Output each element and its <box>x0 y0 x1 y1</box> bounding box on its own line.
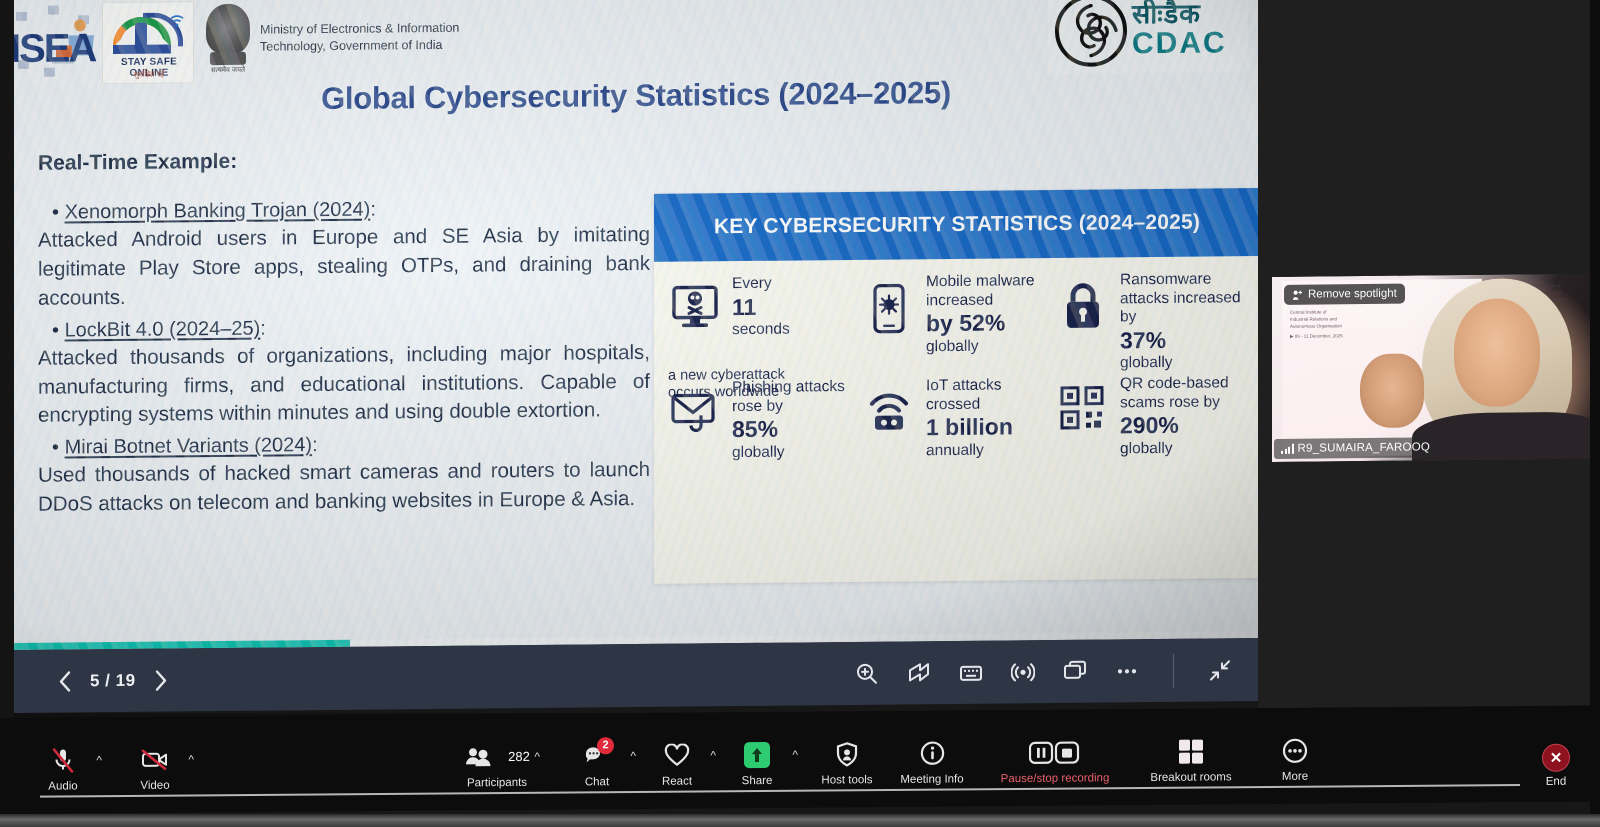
video-label: Video <box>140 779 169 791</box>
more-button[interactable]: More <box>1258 729 1332 783</box>
infographic-stat-grid: Every 11 seconds a new cyberattack occur… <box>654 256 1258 490</box>
iot-signal-icon <box>862 377 916 479</box>
host-tools-button[interactable]: Host tools <box>810 733 884 787</box>
chat-button[interactable]: 2 Chat ^ <box>560 735 634 789</box>
stat-3-line2: globally <box>1120 354 1250 374</box>
monitor-bezel-right <box>1590 0 1600 827</box>
stat-qr-scams: QR code-based scams rose by 290% globall… <box>1056 374 1250 478</box>
stat-4-line2: globally <box>732 443 862 463</box>
meeting-control-toolbar: Audio ^ Video ^ <box>0 705 1600 814</box>
chat-label: Chat <box>585 776 609 788</box>
infographic-title: KEY CYBERSECURITY STATISTICS (2024–2025) <box>714 211 1200 240</box>
bullet-label-3: Mirai Botnet Variants (2024) <box>65 434 313 458</box>
ministry-text: Ministry of Electronics & Information Te… <box>260 20 460 56</box>
stat-mobile-malware: Mobile malware increased by 52% globally <box>862 272 1056 376</box>
chevron-left-icon[interactable] <box>58 670 72 692</box>
more-dots-icon <box>1282 735 1308 765</box>
stat-4-value: 85% <box>732 415 862 444</box>
stat-ransomware: Ransomware attacks increased by 37% glob… <box>1056 270 1250 374</box>
phone-bug-icon <box>862 273 916 375</box>
qr-code-icon <box>1056 375 1110 477</box>
stat-2-text: Mobile malware increased by 52% globally <box>926 272 1056 375</box>
slide-left-column: Real-Time Example: • Xenomorph Banking T… <box>38 146 650 520</box>
key-statistics-infographic: KEY CYBERSECURITY STATISTICS (2024–2025) <box>654 188 1258 584</box>
stat-1-line2: seconds <box>732 321 790 340</box>
stat-iot-attacks: IoT attacks crossed 1 billion annually <box>862 376 1056 480</box>
stat-1-caption: a new cyberattack occurs worldwide <box>668 366 828 402</box>
share-label: Share <box>742 774 773 786</box>
recording-label: Pause/stop recording <box>1001 772 1110 785</box>
cdac-wheel-icon <box>1054 0 1128 68</box>
cdac-logo: सीःडैक CDAC <box>1048 0 1248 74</box>
participants-icon: 282 <box>464 741 530 772</box>
breakout-rooms-label: Breakout rooms <box>1150 771 1231 784</box>
infographic-title-band: KEY CYBERSECURITY STATISTICS (2024–2025) <box>654 188 1258 262</box>
participants-label: Participants <box>467 776 527 788</box>
bullet-suffix-1: : <box>370 199 376 221</box>
bullet-label-2: LockBit 4.0 (2024–25) <box>65 317 261 341</box>
broadcast-icon[interactable] <box>1011 660 1035 684</box>
end-call-button[interactable]: ✕ End <box>1542 744 1570 788</box>
stat-6-value: 290% <box>1120 411 1250 440</box>
meeting-info-button[interactable]: Meeting Info <box>884 732 980 786</box>
monitor-photo-frame: ISEA STAY SAFE ONLINE सुरक्षित रहें <box>0 0 1600 827</box>
video-button[interactable]: Video ^ <box>118 738 192 792</box>
more-label: More <box>1282 770 1308 782</box>
grid-icon <box>1178 736 1204 766</box>
padlock-icon <box>1056 271 1110 373</box>
signal-strength-icon <box>1281 444 1294 454</box>
bullet-suffix-3: : <box>312 434 318 456</box>
stat-1-text: Every 11 seconds <box>732 275 790 378</box>
stat-1-line1: Every <box>732 275 790 294</box>
stat-6-text: QR code-based scams rose by 290% globall… <box>1120 374 1250 477</box>
stat-5-text: IoT attacks crossed 1 billion annually <box>926 376 1056 479</box>
isea-logo: ISEA <box>14 1 114 86</box>
share-caret-icon[interactable]: ^ <box>792 747 798 761</box>
audio-button[interactable]: Audio ^ <box>26 739 100 793</box>
bullet-body-1: Attacked Android users in Europe and SE … <box>38 221 650 314</box>
participants-caret-icon[interactable]: ^ <box>534 749 540 763</box>
participant-face <box>1454 298 1540 407</box>
participant-name-label: R9_SUMAIRA_FAROOQ <box>1298 441 1431 454</box>
bullet-item-1: • Xenomorph Banking Trojan (2024): <box>68 196 650 225</box>
monitor-skull-icon <box>668 275 722 377</box>
bullet-body-3: Used thousands of hacked smart cameras a… <box>38 456 650 520</box>
bullet-item-2: • LockBit 4.0 (2024–25): <box>68 314 650 343</box>
participant-body <box>1412 412 1600 462</box>
stat-6-line1: QR code-based scams rose by <box>1120 374 1250 412</box>
info-icon <box>920 738 945 768</box>
microphone-muted-icon <box>51 745 75 775</box>
end-call-icon: ✕ <box>1542 744 1570 772</box>
spotlighted-participant-video[interactable]: Central Institute ofIndustrial Relations… <box>1272 274 1600 462</box>
stat-2-line2: globally <box>926 337 1056 357</box>
stat-5-value: 1 billion <box>926 413 1056 442</box>
slide-page-indicator: 5 / 19 <box>90 670 136 690</box>
audio-label: Audio <box>48 780 77 792</box>
isea-logo-text: ISEA <box>14 26 95 72</box>
participant-hand <box>1360 353 1424 428</box>
stat-3-text: Ransomware attacks increased by 37% glob… <box>1120 270 1250 373</box>
keyboard-icon[interactable] <box>959 660 983 684</box>
share-button[interactable]: Share ^ <box>720 733 794 787</box>
react-label: React <box>662 775 692 787</box>
share-screen-icon <box>744 739 770 769</box>
chat-unread-badge: 2 <box>597 737 614 754</box>
chevron-right-icon[interactable] <box>154 669 168 691</box>
duplicate-window-icon[interactable] <box>1063 659 1087 683</box>
participant-name-chip: R9_SUMAIRA_FAROOQ <box>1274 437 1437 459</box>
bullet-label-1: Xenomorph Banking Trojan (2024) <box>65 199 371 224</box>
pause-stop-icon <box>1029 737 1081 767</box>
video-caret-icon[interactable]: ^ <box>188 752 194 766</box>
toolbar-left-group: Audio ^ Video ^ <box>26 738 192 792</box>
emblem-caption: सत्यमेव जयते <box>202 66 254 75</box>
react-caret-icon[interactable]: ^ <box>710 748 716 762</box>
shared-screen-slide: ISEA STAY SAFE ONLINE सुरक्षित रहें <box>14 0 1258 650</box>
stat-2-line1: Mobile malware increased <box>926 272 1056 310</box>
stay-safe-online-subtitle: सुरक्षित रहें <box>103 68 195 80</box>
stat-5-line1: IoT attacks crossed <box>926 376 1056 414</box>
shield-icon <box>835 739 859 769</box>
stat-2-value: by 52% <box>926 309 1056 338</box>
collapse-icon[interactable] <box>1208 658 1232 682</box>
stay-safe-online-logo: STAY SAFE ONLINE सुरक्षित रहें <box>102 1 194 84</box>
real-time-example-heading: Real-Time Example: <box>38 146 650 176</box>
wifi-icon <box>169 12 185 28</box>
monitor-bezel-left <box>0 0 14 827</box>
stat-5-line2: annually <box>926 441 1056 461</box>
heart-icon <box>664 740 690 770</box>
participants-button[interactable]: 282 Participants ^ <box>450 735 544 789</box>
stat-3-value: 37% <box>1120 326 1250 355</box>
more-options-icon[interactable] <box>1115 659 1139 683</box>
presenter-tools <box>855 653 1232 691</box>
bullet-suffix-2: : <box>260 317 266 339</box>
stat-6-line2: globally <box>1120 439 1250 459</box>
spotlight-icon <box>1292 289 1303 300</box>
react-button[interactable]: React ^ <box>640 734 714 788</box>
presenter-control-bar: 5 / 19 <box>14 638 1258 713</box>
participants-count: 282 <box>508 749 530 764</box>
remove-spotlight-label: Remove spotlight <box>1308 288 1397 301</box>
meeting-app-window: ISEA STAY SAFE ONLINE सुरक्षित रहें <box>14 0 1590 814</box>
host-tools-label: Host tools <box>821 774 872 786</box>
annotate-pen-icon[interactable] <box>907 661 931 685</box>
slide-navigation: 5 / 19 <box>58 669 168 692</box>
stat-cyberattack-frequency: Every 11 seconds a new cyberattack occur… <box>668 274 862 378</box>
stat-3-line1: Ransomware attacks increased by <box>1120 270 1250 327</box>
chat-caret-icon[interactable]: ^ <box>630 749 636 763</box>
end-call-label: End <box>1546 776 1566 788</box>
cdac-english-text: CDAC <box>1132 27 1227 59</box>
cdac-hindi-text: सीःडैक <box>1132 0 1227 28</box>
stat-1-value: 11 <box>732 293 790 321</box>
camera-muted-icon <box>141 744 169 774</box>
breakout-rooms-button[interactable]: Breakout rooms <box>1130 730 1252 784</box>
audio-caret-icon[interactable]: ^ <box>96 753 102 767</box>
recording-button[interactable]: Pause/stop recording <box>980 731 1130 785</box>
bullet-item-3: • Mirai Botnet Variants (2024): <box>68 431 650 460</box>
monitor-bezel-bottom <box>0 814 1600 827</box>
toolbar-center-group: 282 Participants ^ 2 Chat ^ <box>450 729 1332 789</box>
zoom-in-icon[interactable] <box>855 661 879 685</box>
remove-spotlight-button[interactable]: Remove spotlight <box>1284 284 1405 305</box>
india-state-emblem-icon: सत्यमेव जयते <box>202 2 254 82</box>
bullet-body-2: Attacked thousands of organizations, inc… <box>38 339 650 432</box>
meeting-info-label: Meeting Info <box>900 773 963 785</box>
